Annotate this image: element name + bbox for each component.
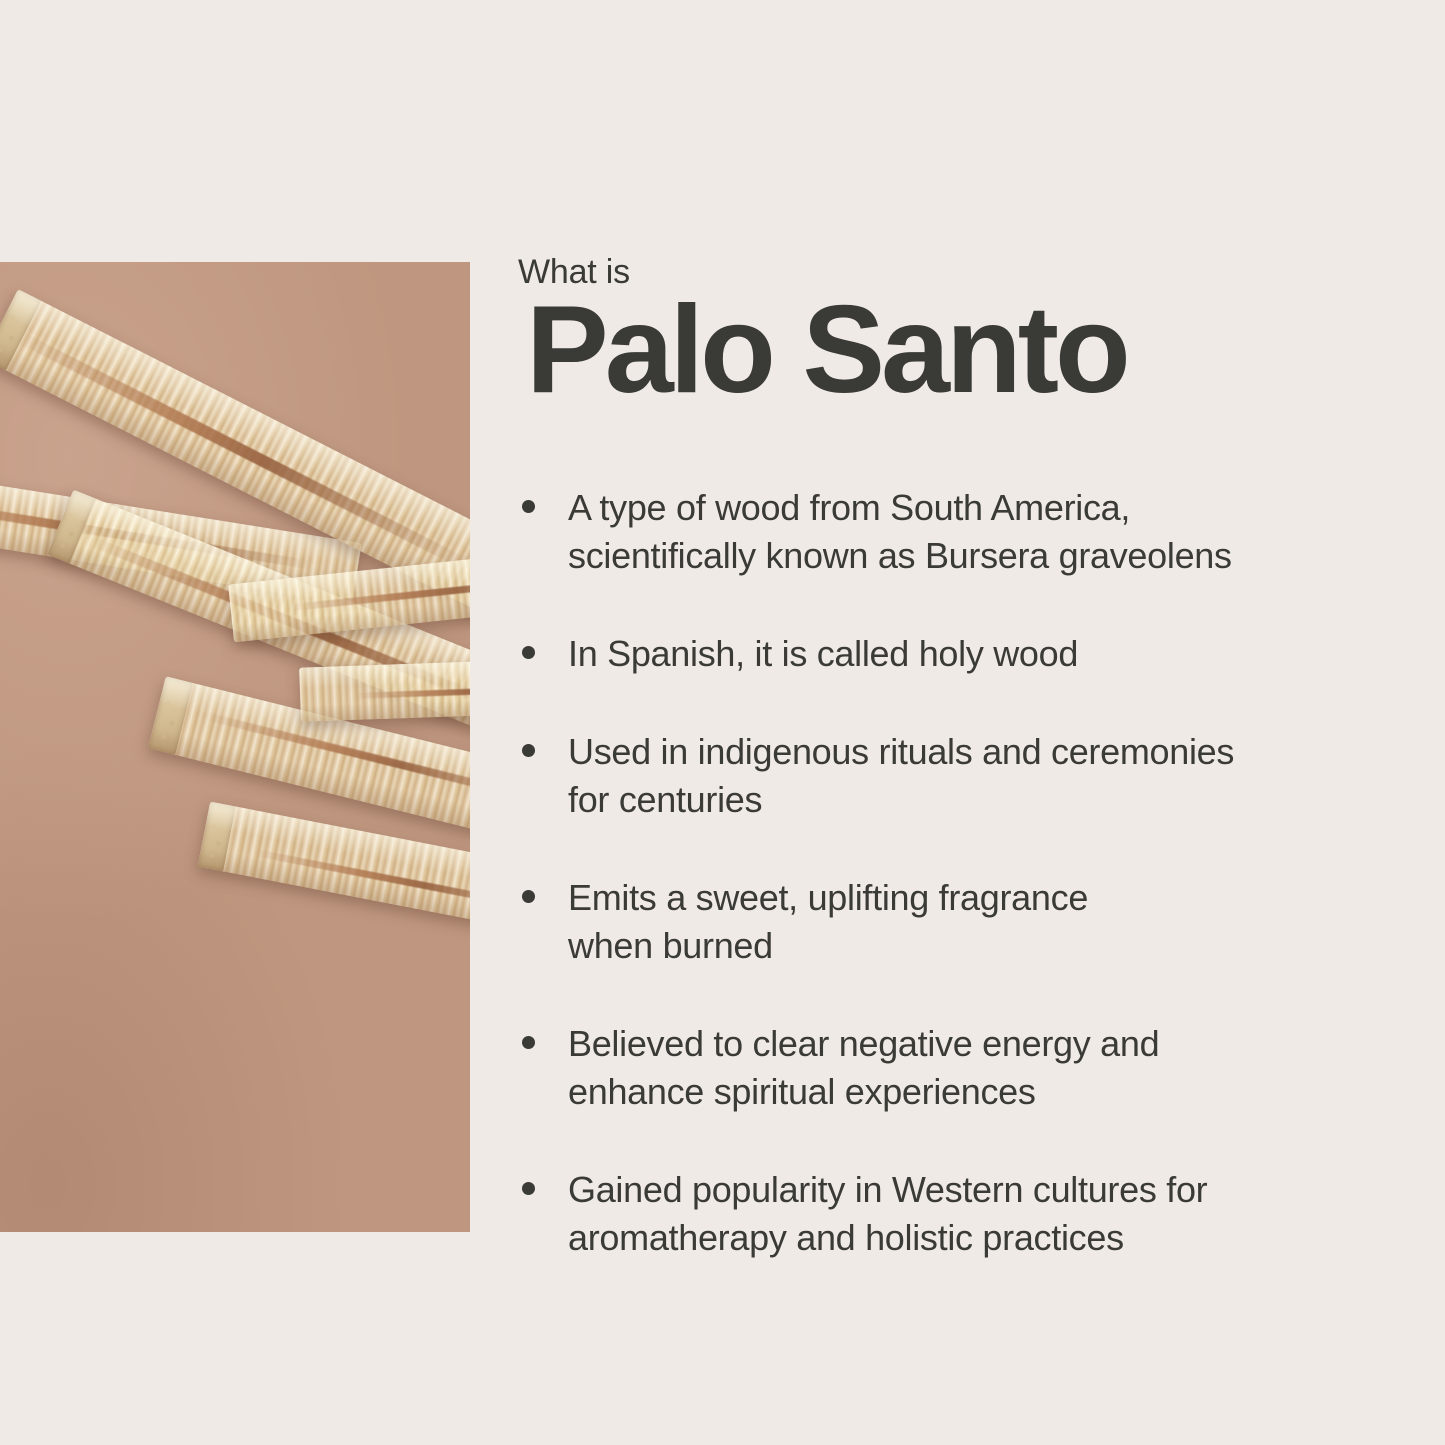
wood-stick	[299, 656, 470, 721]
bullet-dot-icon	[522, 500, 535, 513]
bullet-dot-icon	[522, 1036, 535, 1049]
text-column: What is Palo Santo A type of wood from S…	[518, 0, 1378, 1445]
list-item-label: Gained popularity in Western cultures fo…	[568, 1169, 1207, 1258]
palo-santo-photo	[0, 262, 470, 1232]
bullet-dot-icon	[522, 1182, 535, 1195]
list-item-label: Emits a sweet, uplifting fragrance when …	[568, 877, 1088, 966]
fact-list: A type of wood from South America, scien…	[518, 484, 1358, 1262]
list-item-label: Believed to clear negative energy and en…	[568, 1023, 1159, 1112]
list-item: Believed to clear negative energy and en…	[518, 1020, 1358, 1116]
list-item-label: A type of wood from South America, scien…	[568, 487, 1232, 576]
bullet-dot-icon	[522, 890, 535, 903]
wood-highlight	[299, 656, 470, 721]
page-title: Palo Santo	[526, 288, 1127, 412]
list-item: A type of wood from South America, scien…	[518, 484, 1358, 580]
bullet-dot-icon	[522, 744, 535, 757]
list-item-label: In Spanish, it is called holy wood	[568, 633, 1078, 674]
list-item: In Spanish, it is called holy wood	[518, 630, 1358, 678]
list-item-label: Used in indigenous rituals and ceremonie…	[568, 731, 1234, 820]
infographic-canvas: What is Palo Santo A type of wood from S…	[0, 0, 1445, 1445]
list-item: Emits a sweet, uplifting fragrance when …	[518, 874, 1358, 970]
bullet-dot-icon	[522, 646, 535, 659]
list-item: Used in indigenous rituals and ceremonie…	[518, 728, 1358, 824]
list-item: Gained popularity in Western cultures fo…	[518, 1166, 1358, 1262]
